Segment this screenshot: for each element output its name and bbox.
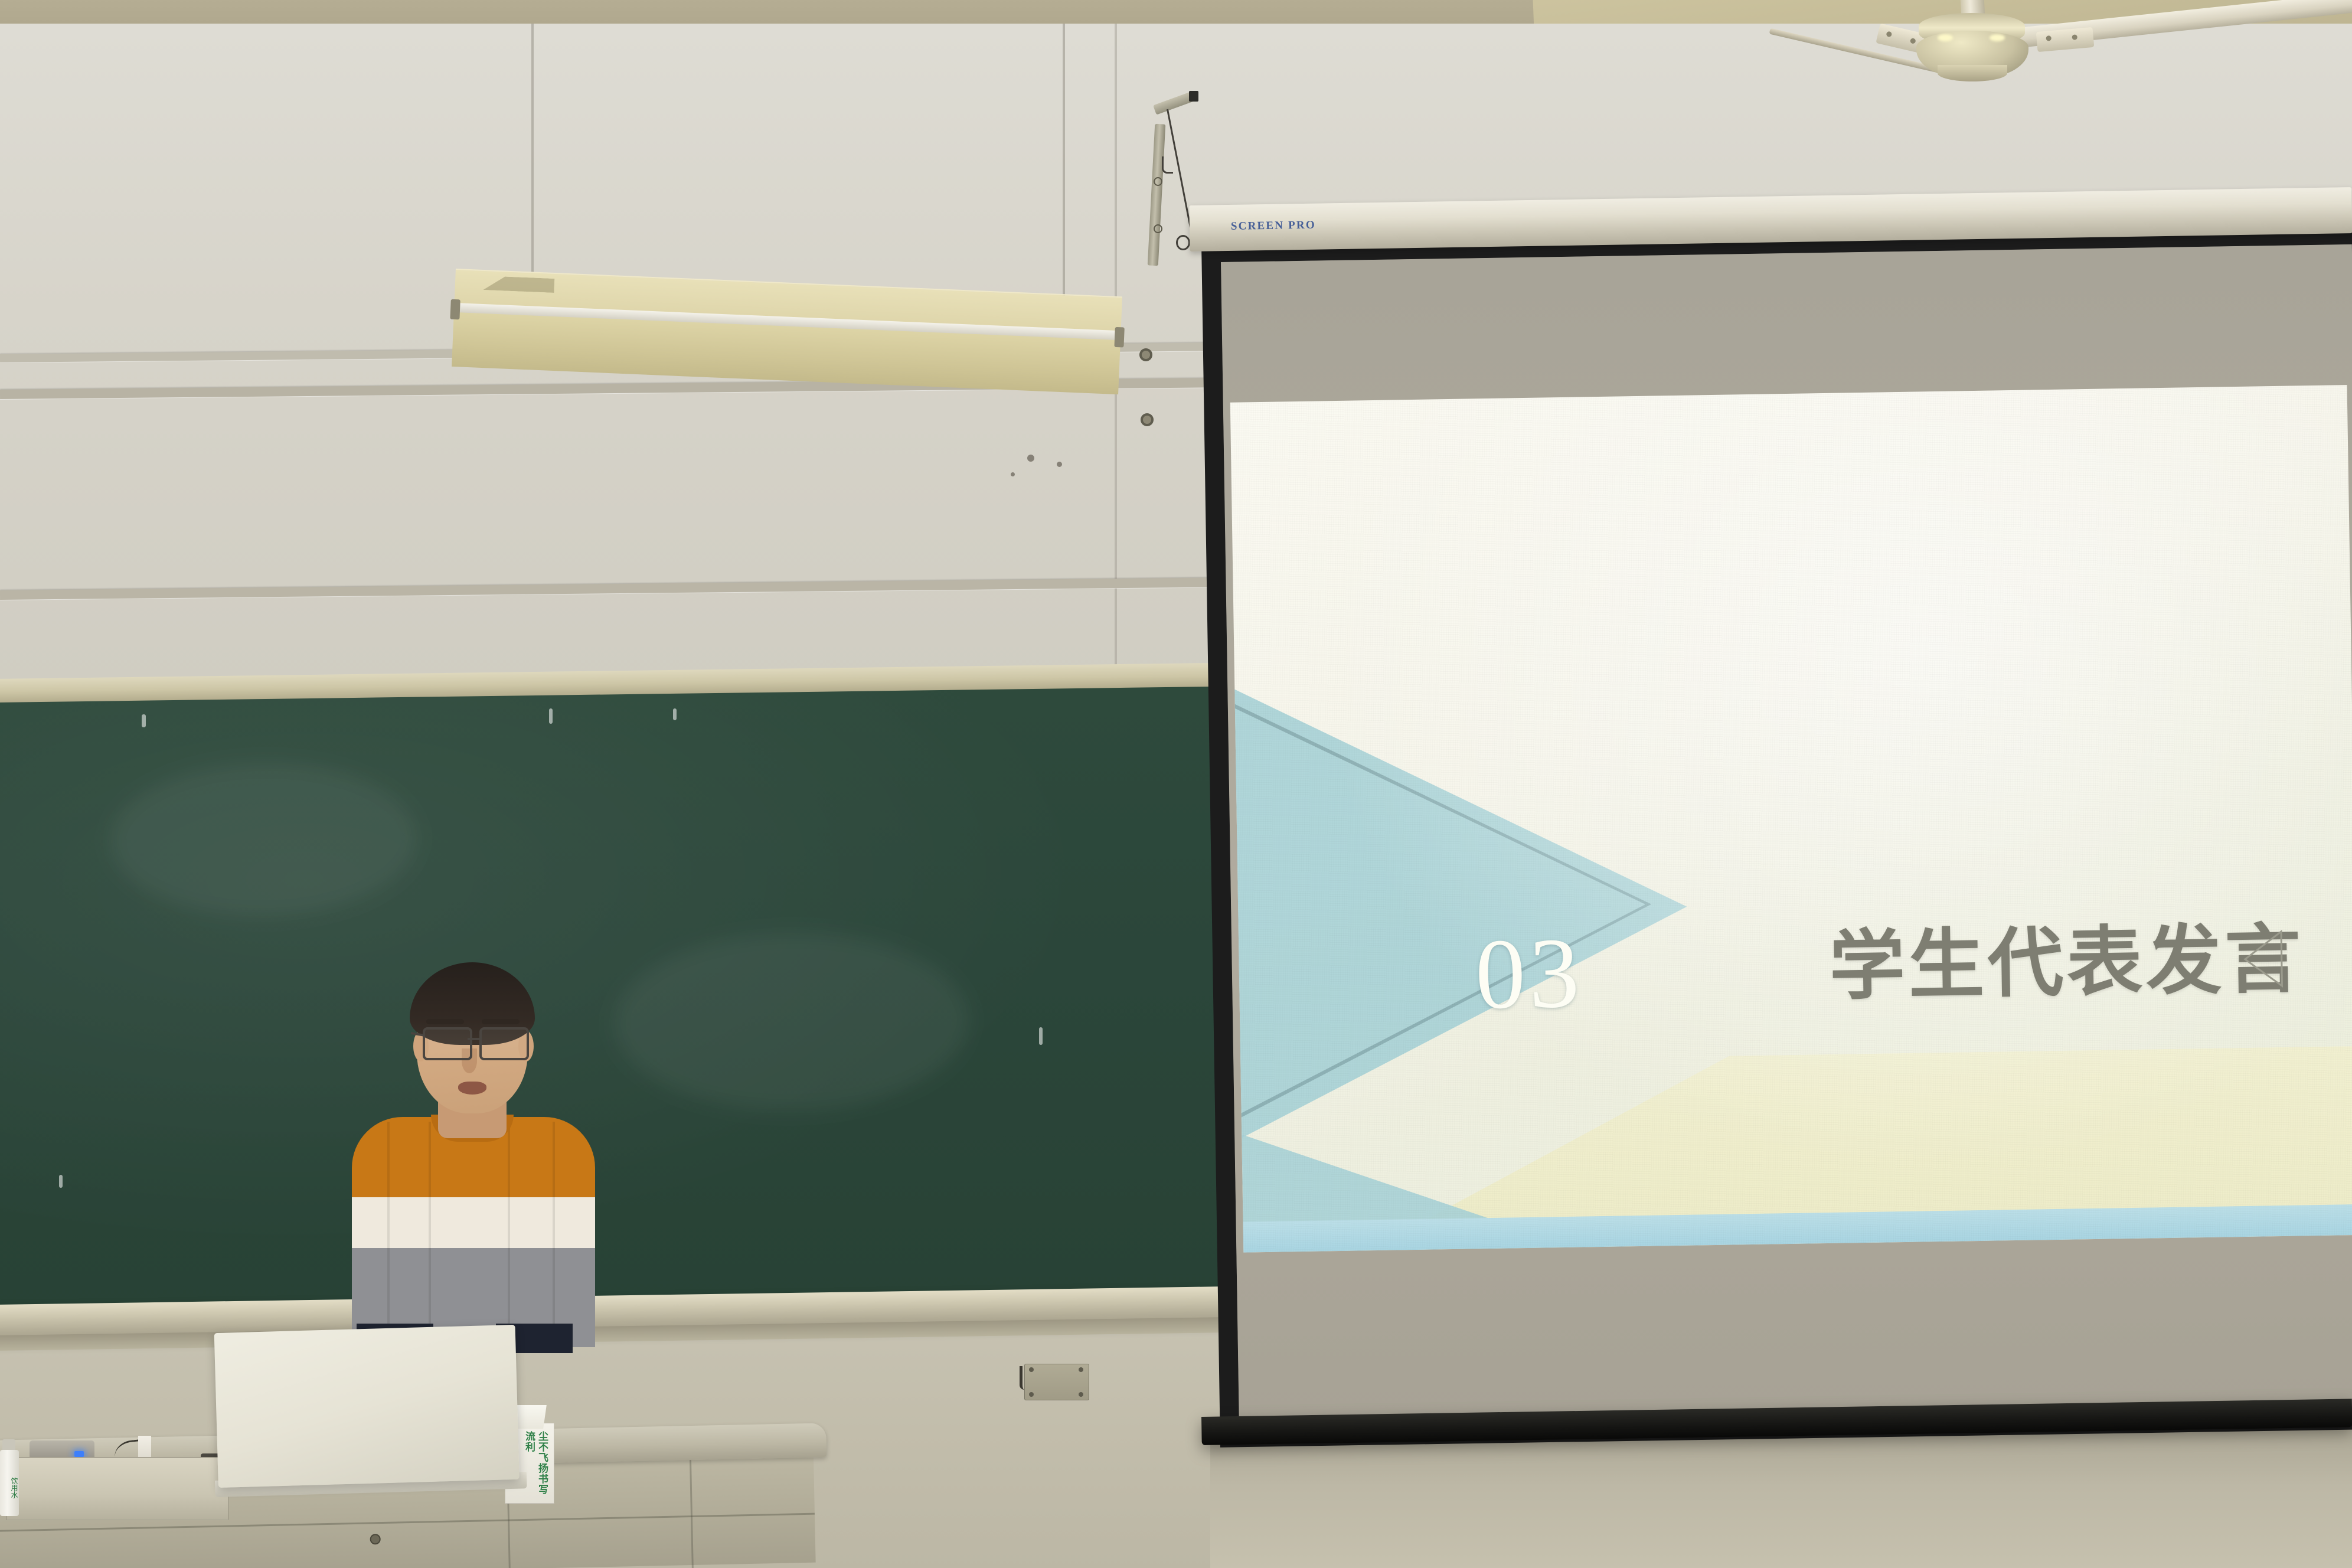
laptop[interactable] [218,1333,528,1504]
blackboard [0,679,1244,1321]
bracket-tip [1189,91,1198,102]
water-bottle[interactable]: 饮用水 [0,1439,20,1516]
wall-outlet-plate[interactable] [1024,1364,1089,1400]
glasses-lens [423,1027,472,1060]
bracket-hole [1154,177,1162,186]
fan-highlight [1990,34,2005,41]
mouth [458,1082,486,1095]
bracket-eyelet [1176,235,1190,250]
wall-screw-hole [1139,348,1152,361]
bottle-body: 饮用水 [0,1450,19,1516]
slide-section-number: 03 [1475,923,1584,1025]
eyebrow [426,1019,464,1024]
bottle-cap [2,1439,15,1451]
podium-lock[interactable] [370,1534,381,1544]
slide-title: 学生代表发言 [1829,920,2305,1007]
fan-blade-bracket [2036,27,2095,52]
screen-mount-bracket [1133,89,1204,283]
left-triangle-icon [2242,928,2286,990]
wall-speck [1027,455,1034,462]
fan-highlight [1938,34,1953,41]
bracket-hook [1162,156,1173,174]
wall-speck [1011,472,1015,476]
chalk-mark [59,1175,63,1188]
chalk-mark [673,708,677,720]
light-endcap [450,299,460,320]
laptop-lid [214,1325,520,1488]
student-speaker [331,945,614,1346]
light-endcap [1114,327,1124,348]
chalk-mark [142,714,146,727]
bracket-hole [1154,224,1162,233]
chalk-mark [549,708,553,724]
ceiling-fan [1683,0,2352,159]
classroom-scene: SCREEN PRO 03 学生代表发言 [0,0,2352,1568]
wall-screw-hole [1141,413,1154,426]
wall-cable [1020,1366,1028,1390]
power-led-indicator [74,1451,84,1457]
chalk-mark [1039,1027,1043,1045]
wall-speck [1057,462,1062,467]
av-control-console[interactable] [6,1439,239,1519]
projector-screen-surface[interactable]: 03 学生代表发言 [1221,244,2352,1436]
fan-hub-cap [1938,65,2007,81]
presentation-slide[interactable]: 03 学生代表发言 [1230,385,2352,1253]
console-body [6,1457,228,1520]
bracket-vertical-arm [1148,124,1166,266]
glasses-lens [479,1027,529,1060]
eyebrow [482,1019,520,1024]
light-reflector-notch [484,276,555,293]
screen-brand-label: SCREEN PRO [1231,219,1316,233]
bottle-label: 饮用水 [1,1477,18,1507]
glasses-bridge [468,1038,479,1040]
